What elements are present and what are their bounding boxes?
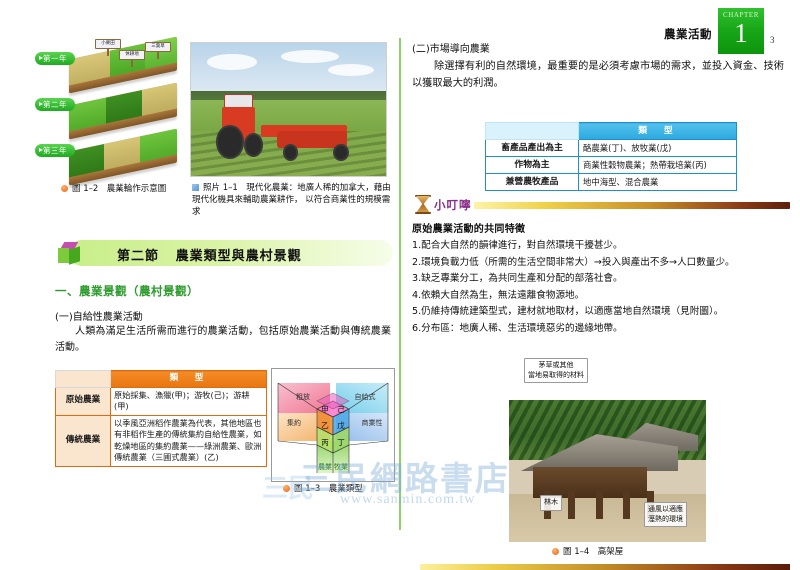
- cube-cell-ji: 己: [337, 405, 345, 414]
- tip-item: 6.分布區：地廣人稀、生活環境惡劣的邊緣地帶。: [412, 321, 790, 338]
- tip-title: 小叮嚀: [434, 197, 472, 213]
- tip-lead: 原始農業活動的共同特徵: [412, 220, 790, 235]
- table-row: 作物為主 商業性穀物農業；熱帶栽培業(丙): [486, 157, 737, 174]
- chapter-number: 1: [718, 20, 764, 47]
- page-title: 農業活動: [650, 26, 712, 42]
- tip-item: 5.仍維持傳統建築型式，建材就地取材，以適應當地自然環境（見附圖）。: [412, 304, 790, 321]
- cube-icon: [57, 242, 83, 266]
- heading-agricultural-landscape: 一、農業景觀（農村景觀）: [55, 283, 199, 299]
- callout-ventilation-line1: 通風以適應: [648, 505, 683, 513]
- chapter-badge: CHAPTER 1: [718, 8, 764, 54]
- tip-item: 4.依賴大自然為生，無法遠離食物源地。: [412, 288, 790, 305]
- table-row-header: 類 型: [56, 371, 267, 388]
- rotation-year-label-2: 第二年: [35, 98, 75, 111]
- table-header-blank: [56, 371, 111, 388]
- subsistence-type-table: 類 型 原始農業 原始採集、漁獵(甲)；游牧(己)；游耕(甲) 傳統農業 以季風…: [55, 370, 267, 467]
- hourglass-icon: [414, 195, 432, 214]
- table-row-label-mixed: 兼營農牧產品: [486, 174, 579, 191]
- table-cell-mixed-value: 地中海型、混合農業: [579, 174, 737, 191]
- caption-figure-1-2-text: 圖 1–2 農業輪作示意圖: [72, 184, 166, 194]
- table-header-type: 類 型: [111, 371, 267, 388]
- rotation-year-label-1: 第一年: [35, 52, 75, 65]
- cube-axis-base-right: 牧業: [334, 462, 348, 471]
- cube-axis-base-left: 農業: [318, 462, 332, 471]
- table-row-label-livestock: 畜產品產出為主: [486, 140, 579, 157]
- tip-item: 3.缺乏專業分工，為共同生產和分配的部落社會。: [412, 271, 790, 288]
- table-row-label-traditional: 傳統農業: [56, 415, 111, 466]
- cube-axis-left-bottom: 集約: [287, 418, 301, 427]
- caption-bullet-icon: [283, 485, 290, 492]
- tip-box: 小叮嚀 原始農業活動的共同特徵 1.配合大自然的韻律進行，對自然環境干擾甚少。 …: [412, 195, 790, 337]
- tip-rule: [474, 202, 790, 209]
- table-cell-primitive-value: 原始採集、漁獵(甲)；游牧(己)；游耕(甲): [111, 387, 267, 415]
- caption-figure-1-3-text: 圖 1–3 農業類型: [294, 484, 363, 494]
- callout-roof-material-line1: 茅草或其他: [539, 361, 574, 369]
- tip-item: 1.配合大自然的韻律進行，對自然環境干擾甚少。: [412, 238, 790, 255]
- table-row: 原始農業 原始採集、漁獵(甲)；游牧(己)；游耕(甲): [56, 387, 267, 415]
- rotation-layer-year1: 第一年 小麥田 休耕地 三葉草: [69, 48, 177, 88]
- section-title: 農業類型與農村景觀: [176, 249, 302, 264]
- tip-item: 2.環境負載力低（所需的生活空間非常大）→投入與產出不多→人口數量少。: [412, 255, 790, 272]
- page-number: 3: [770, 35, 775, 45]
- column-divider: [399, 38, 401, 530]
- cube-axis-right-top: 自給式: [355, 392, 376, 401]
- cube-cell-jia: 甲: [321, 405, 329, 414]
- cube-axis-right-bottom: 商業性: [362, 418, 383, 427]
- caption-photo-1-1-text: 照片 1–1 現代化農業：地廣人稀的加拿大，藉由現代化機具來輔助農業耕作， 以符…: [192, 183, 391, 217]
- caption-figure-1-2: 圖 1–2 農業輪作示意圖: [61, 183, 191, 195]
- agriculture-type-cube-chart: 粗放 集約 自給式 商業性 農業 牧業 甲 己 乙 戊 丙 丁: [271, 368, 395, 482]
- table-header-type: 類 型: [579, 123, 737, 140]
- table-row-label-primitive: 原始農業: [56, 387, 111, 415]
- rotation-sign-2-label: 休耕地: [119, 50, 145, 60]
- caption-figure-1-3: 圖 1–3 農業類型: [283, 483, 403, 495]
- table-row-label-crops: 作物為主: [486, 157, 579, 174]
- caption-bullet-icon: [552, 548, 559, 555]
- caption-photo-1-1: 照片 1–1 現代化農業：地廣人稀的加拿大，藉由現代化機具來輔助農業耕作， 以符…: [192, 182, 397, 218]
- callout-ventilation-line2: 溼熱的環境: [648, 515, 683, 523]
- subheading-market-oriented: (二)市場導向農業: [412, 40, 490, 55]
- callout-roof-material: 茅草或其他 當地易取得的材料: [524, 358, 588, 383]
- rotation-sign-3-label: 三葉草: [145, 42, 171, 52]
- rotation-sign-1-label: 小麥田: [95, 39, 121, 49]
- rotation-sign-3: 三葉草: [145, 42, 171, 59]
- tractor-photo: [190, 42, 387, 177]
- cube-cell-wu: 戊: [337, 420, 345, 430]
- caption-photo-1-4-text: 圖 1–4 高架屋: [563, 547, 623, 557]
- subheading-subsistence: (一)自給性農業活動: [55, 308, 143, 323]
- table-cell-livestock-value: 酪農業(丁)、放牧業(戊): [579, 140, 737, 157]
- tip-header: 小叮嚀: [412, 195, 790, 215]
- caption-bullet-icon: [61, 185, 68, 192]
- table-cell-traditional-value: 以季風亞洲稻作農業為代表，其他地區也有非稻作生產的傳統集約自給性農業，如乾燥地區…: [111, 415, 267, 466]
- crop-rotation-diagram: 第一年 小麥田 休耕地 三葉草: [55, 40, 185, 180]
- rotation-layer-year2: 第二年: [69, 94, 177, 134]
- table-cell-crops-value: 商業性穀物農業；熱帶栽培業(丙): [579, 157, 737, 174]
- rotation-year-label-3: 第三年: [35, 144, 75, 157]
- cube-chart-svg: 粗放 集約 自給式 商業性 農業 牧業 甲 己 乙 戊 丙 丁: [272, 369, 394, 481]
- rotation-sign-2: 休耕地: [119, 50, 145, 67]
- table-header-blank: [486, 123, 579, 140]
- section-header-band: 第二節 農業類型與農村景觀: [69, 240, 393, 266]
- market-type-table: 類 型 畜產品產出為主 酪農業(丁)、放牧業(戊) 作物為主 商業性穀物農業；熱…: [485, 122, 737, 191]
- paragraph-subsistence: 人類為滿足生活所需而進行的農業活動，包括原始農業活動與傳統農業活動。: [55, 324, 391, 356]
- cube-axis-left-top: 粗放: [296, 392, 310, 401]
- table-row-header: 類 型: [486, 123, 737, 140]
- rotation-layer-year3: 第三年: [69, 140, 177, 180]
- cube-cell-ding: 丁: [337, 438, 345, 447]
- table-row: 兼營農牧產品 地中海型、混合農業: [486, 174, 737, 191]
- cube-cell-bing: 丙: [321, 438, 329, 447]
- callout-ventilation: 通風以適應 溼熱的環境: [644, 502, 687, 527]
- caption-photo-1-4: 圖 1–4 高架屋: [552, 546, 702, 558]
- rotation-sign-1: 小麥田: [95, 39, 121, 56]
- table-row: 畜產品產出為主 酪農業(丁)、放牧業(戊): [486, 140, 737, 157]
- caption-square-icon: [192, 184, 199, 191]
- paragraph-market-oriented: 除選擇有利的自然環境，最重要的是必須考慮市場的需求，並投入資金、技術以獲取最大的…: [412, 58, 784, 92]
- section-label: 第二節 農業類型與農村景觀: [117, 245, 302, 264]
- section-number: 第二節: [117, 249, 159, 264]
- table-row: 傳統農業 以季風亞洲稻作農業為代表，其他地區也有非稻作生產的傳統集約自給性農業，…: [56, 415, 267, 466]
- cube-cell-yi: 乙: [321, 421, 329, 430]
- callout-timber: 林木: [540, 495, 562, 511]
- callout-roof-material-line2: 當地易取得的材料: [528, 371, 584, 379]
- tip-list: 1.配合大自然的韻律進行，對自然環境干擾甚少。 2.環境負載力低（所需的生活空間…: [412, 238, 790, 337]
